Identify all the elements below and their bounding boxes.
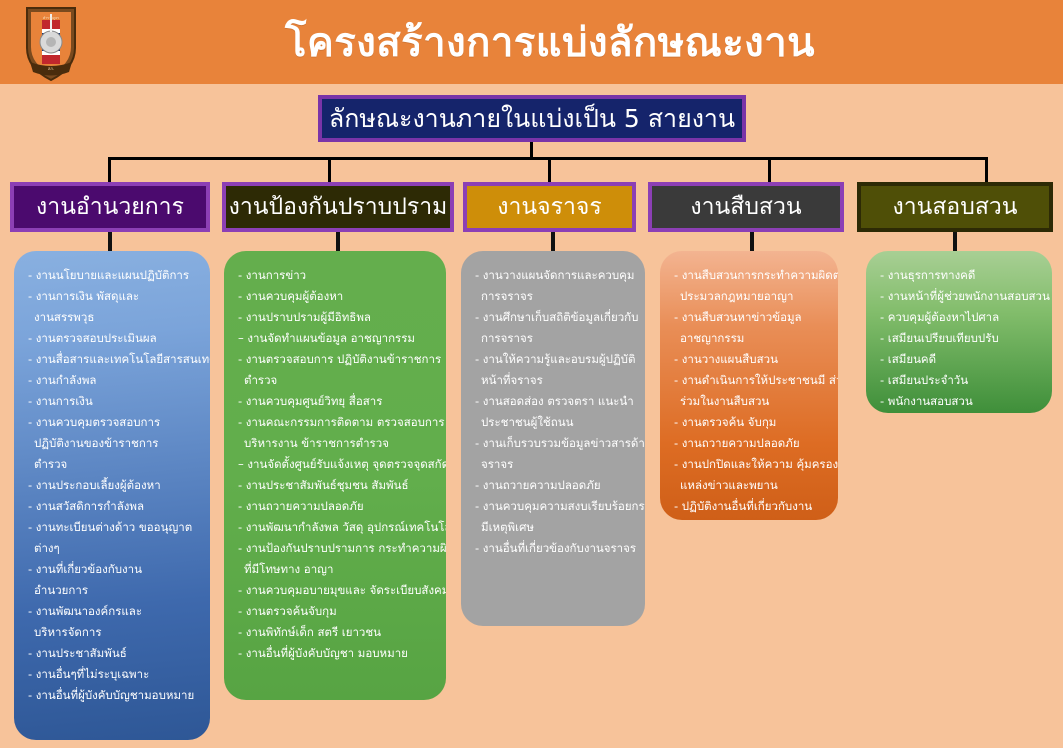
branch-item: – งานจัดทำแผนข้อมูล อาชญากรรม (238, 328, 434, 349)
connector-drop-2 (328, 157, 331, 182)
branch-header-prevention-suppression[interactable]: งานป้องกันปราบปราม (222, 182, 454, 232)
branch-item: - งานสืบสวนการกระทำความผิดตาม (674, 265, 826, 286)
branch-item: - งานคณะกรรมการติดตาม ตรวจสอบการ (238, 412, 434, 433)
branch-item: - งานตรวจสอบประเมินผล (28, 328, 198, 349)
branch-item: - งานควบคุมความสงบเรียบร้อยกรณี (475, 496, 633, 517)
root-node-label: ลักษณะงานภายในแบ่งเป็น 5 สายงาน (329, 99, 735, 139)
branch-header-administration[interactable]: งานอำนวยการ (10, 182, 210, 232)
branch-item: บริหารงาน ข้าราชการตำรวจ (238, 433, 434, 454)
branch-item: ร่วมในงานสืบสวน (674, 391, 826, 412)
branch-item: - งานสวัสดิการกำลังพล (28, 496, 198, 517)
branch-header-inquiry[interactable]: งานสอบสวน (857, 182, 1053, 232)
branch-item: การจราจร (475, 286, 633, 307)
branch-item: - งานวางแผนจัดการและควบคุม (475, 265, 633, 286)
branch-item: - งานสอดส่อง ตรวจตรา แนะนำ (475, 391, 633, 412)
branch-body-investigation: - งานสืบสวนการกระทำความผิดตามประมวลกฎหมา… (660, 251, 838, 520)
branch-item: - พนักงานสอบสวน (880, 391, 1040, 412)
svg-text:สภ.: สภ. (48, 66, 54, 71)
branch-item: - งานอื่นๆที่ไม่ระบุเฉพาะ (28, 664, 198, 685)
branch-item: มีเหตุพิเศษ (475, 517, 633, 538)
connector-drop-1 (108, 157, 111, 182)
branch-item: - งานปกปิดและให้ความ คุ้มครอง (674, 454, 826, 475)
branch-body-prevention-suppression: - งานการข่าว- งานควบคุมผู้ต้องหา- งานปรา… (224, 251, 446, 700)
branch-item: - งานนโยบายและแผนปฏิบัติการ (28, 265, 198, 286)
branch-item: - งานเก็บรวบรวมข้อมูลข่าวสารด้าน (475, 433, 633, 454)
branch-item: - งานประกอบเลี้ยงผู้ต้องหา (28, 475, 198, 496)
branch-item: ตำรวจ (238, 370, 434, 391)
police-badge-emblem: สภ. ตำรวจภูธร (22, 4, 80, 82)
branch-item: - งานพัฒนาองค์กรและ (28, 601, 198, 622)
branch-item: ตำรวจ (28, 454, 198, 475)
branch-item: - งานปราบปรามผู้มีอิทธิพล (238, 307, 434, 328)
branch-item: - งานธุรการทางคดี (880, 265, 1040, 286)
branch-item: ต่างๆ (28, 538, 198, 559)
branch-item: ปฏิบัติงานของข้าราชการ (28, 433, 198, 454)
connector-drop-3 (548, 157, 551, 182)
branch-item: การจราจร (475, 328, 633, 349)
branch-item: - งานป้องกันปราบปรามการ กระทำความผิด (238, 538, 434, 559)
root-node: ลักษณะงานภายในแบ่งเป็น 5 สายงาน (318, 95, 746, 142)
branch-header-label: งานป้องกันปราบปราม (229, 189, 448, 225)
branch-body-traffic: - งานวางแผนจัดการและควบคุมการจราจร- งานศ… (461, 251, 645, 626)
branch-item: - งานถวายความปลอดภัย (238, 496, 434, 517)
branch-item: แหล่งข่าวและพยาน (674, 475, 826, 496)
branch-item: – งานจัดตั้งศูนย์รับแจ้งเหตุ จุดตรวจจุดส… (238, 454, 434, 475)
branch-item: - งานกำลังพล (28, 370, 198, 391)
branch-item: งานสรรพวุธ (28, 307, 198, 328)
branch-item: - งานถวายความปลอดภัย (674, 433, 826, 454)
branch-item: - งานอื่นที่ผู้บังคับบัญชามอบหมาย (28, 685, 198, 706)
branch-body-administration: - งานนโยบายและแผนปฏิบัติการ- งานการเงิน … (14, 251, 210, 740)
branch-item: - งานประชาสัมพันธ์ชุมชน สัมพันธ์ (238, 475, 434, 496)
branch-item: - งานอื่นที่เกี่ยวข้องกับงานจราจร (475, 538, 633, 559)
branch-item: - งานควบคุมอบายมุขและ จัดระเบียบสังคม (238, 580, 434, 601)
branch-item: - งานพิทักษ์เด็ก สตรี เยาวชน (238, 622, 434, 643)
branch-item: - งานตรวจค้นจับกุม (238, 601, 434, 622)
branch-item: ประมวลกฎหมายอาญา (674, 286, 826, 307)
page-header: สภ. ตำรวจภูธร โครงสร้างการแบ่งลักษณะงาน (0, 0, 1063, 84)
branch-item: - งานให้ความรู้และอบรมผู้ปฏิบัติ (475, 349, 633, 370)
branch-header-investigation[interactable]: งานสืบสวน (648, 182, 844, 232)
page-title: โครงสร้างการแบ่งลักษณะงาน (110, 0, 990, 84)
branch-item: - ปฏิบัติงานอื่นที่เกี่ยวกับงาน (674, 496, 826, 517)
branch-item: - งานที่เกี่ยวข้องกับงาน (28, 559, 198, 580)
branch-item: - งานควบคุมตรวจสอบการ (28, 412, 198, 433)
branch-item: - เสมียนคดี (880, 349, 1040, 370)
branch-item: - งานอื่นที่ผู้บังคับบัญชา มอบหมาย (238, 643, 434, 664)
branch-item: - งานทะเบียนต่างด้าว ขออนุญาต (28, 517, 198, 538)
branch-header-label: งานอำนวยการ (36, 189, 184, 225)
branch-item: - งานประชาสัมพันธ์ (28, 643, 198, 664)
branch-item: - งานควบคุมศูนย์วิทยุ สื่อสาร (238, 391, 434, 412)
branch-item: - งานการเงิน (28, 391, 198, 412)
branch-item: - งานตรวจสอบการ ปฏิบัติงานข้าราชการ (238, 349, 434, 370)
branch-item: - งานดำเนินการให้ประชาชนมี ส่วน (674, 370, 826, 391)
org-chart-page: สภ. ตำรวจภูธร โครงสร้างการแบ่งลักษณะงาน … (0, 0, 1063, 748)
branch-item: - เสมียนเปรียบเทียบปรับ (880, 328, 1040, 349)
branch-item: จราจร (475, 454, 633, 475)
connector-drop-4 (768, 157, 771, 182)
branch-item: - งานสืบสวนหาข่าวข้อมูล (674, 307, 826, 328)
branch-item: - งานวางแผนสืบสวน (674, 349, 826, 370)
branch-item: - ควบคุมผู้ต้องหาไปศาล (880, 307, 1040, 328)
branch-item: อาชญากรรม (674, 328, 826, 349)
branch-item: - งานการข่าว (238, 265, 434, 286)
branch-item: ที่มีโทษทาง อาญา (238, 559, 434, 580)
branch-header-label: งานสอบสวน (893, 189, 1018, 225)
branch-item: - เสมียนประจำวัน (880, 370, 1040, 391)
connector-drop-5 (985, 157, 988, 182)
branch-item: บริหารจัดการ (28, 622, 198, 643)
branch-item: - งานการเงิน พัสดุและ (28, 286, 198, 307)
branch-item: อำนวยการ (28, 580, 198, 601)
branch-body-inquiry: - งานธุรการทางคดี- งานหน้าที่ผู้ช่วยพนัก… (866, 251, 1052, 413)
branch-item: - งานศึกษาเก็บสถิติข้อมูลเกี่ยวกับ (475, 307, 633, 328)
branch-item: - งานหน้าที่ผู้ช่วยพนักงานสอบสวน (880, 286, 1040, 307)
branch-header-label: งานสืบสวน (690, 189, 801, 225)
branch-item: - งานสื่อสารและเทคโนโลยีสารสนเทศ (28, 349, 198, 370)
branch-item: - งานควบคุมผู้ต้องหา (238, 286, 434, 307)
svg-text:ตำรวจภูธร: ตำรวจภูธร (43, 16, 59, 20)
branch-item: - งานถวายความปลอดภัย (475, 475, 633, 496)
branch-header-label: งานจราจร (497, 189, 601, 225)
branch-item: ประชาชนผู้ใช้ถนน (475, 412, 633, 433)
branch-header-traffic[interactable]: งานจราจร (463, 182, 636, 232)
branch-item: - งานพัฒนากำลังพล วัสดุ อุปกรณ์เทคโนโลยี (238, 517, 434, 538)
branch-item: หน้าที่จราจร (475, 370, 633, 391)
branch-item: - งานตรวจค้น จับกุม (674, 412, 826, 433)
